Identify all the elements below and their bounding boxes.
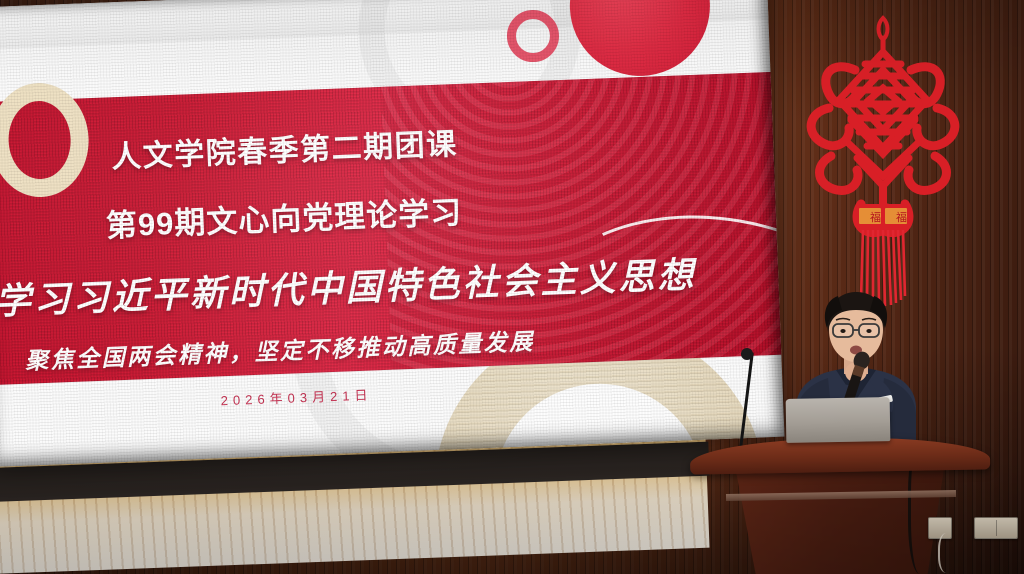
gooseneck-mic-head: [741, 348, 753, 360]
wall-switch-panel: [974, 517, 1018, 539]
led-screen-surface: 人文学院春季第二期团课 第99期文心向党理论学习 学习习近平新时代中国特色社会主…: [0, 0, 785, 467]
svg-text:福: 福: [896, 210, 907, 224]
laptop: [786, 397, 891, 443]
red-circle-decor: [567, 0, 712, 79]
chinese-knot-ornament: 福 福: [795, 8, 975, 308]
svg-text:福: 福: [870, 210, 881, 224]
led-screen: 人文学院春季第二期团课 第99期文心向党理论学习 学习习近平新时代中国特色社会主…: [0, 0, 785, 467]
screenshot-root: 人文学院春季第二期团课 第99期文心向党理论学习 学习习近平新时代中国特色社会主…: [0, 0, 1024, 574]
white-power-cable: [938, 533, 958, 573]
